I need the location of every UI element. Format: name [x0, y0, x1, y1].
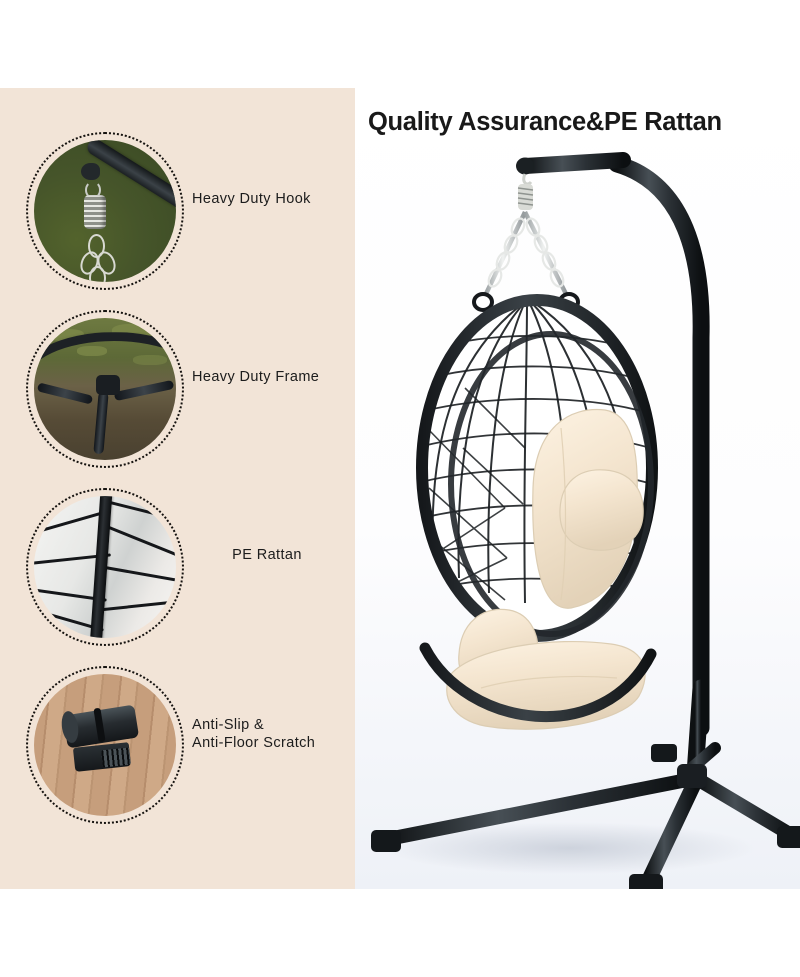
feature-label-anti-slip: Anti-Slip & Anti-Floor Scratch — [192, 716, 354, 752]
feature-label-heavy-duty-hook: Heavy Duty Hook — [192, 190, 354, 208]
feature-item-pe-rattan[interactable]: PE Rattan — [0, 484, 355, 662]
foot-cap-left — [371, 830, 401, 852]
stand-arm-end-cap — [516, 158, 534, 175]
chain-ring-left — [474, 294, 492, 310]
feature-item-heavy-duty-frame[interactable]: Heavy Duty Frame — [0, 306, 355, 484]
foot-cap-right — [777, 826, 800, 848]
feature-image-pe-rattan — [26, 488, 184, 646]
feature-item-anti-slip[interactable]: Anti-Slip & Anti-Floor Scratch — [0, 662, 355, 840]
foot-cap-rear — [651, 744, 677, 762]
page-title: Quality Assurance&PE Rattan — [368, 108, 800, 137]
stand-top-arm — [525, 160, 623, 166]
feature-image-hook — [26, 132, 184, 290]
feature-label-anti-slip-line2: Anti-Floor Scratch — [192, 734, 354, 752]
head-pillow — [560, 470, 643, 550]
ceiling-hook-icon — [524, 174, 531, 184]
infographic-page: Quality Assurance&PE Rattan Heavy Duty H… — [0, 0, 800, 977]
metal-chain — [485, 212, 567, 296]
product-photo-pane — [355, 88, 800, 889]
feature-item-heavy-duty-hook[interactable]: Heavy Duty Hook — [0, 128, 355, 306]
feature-label-anti-slip-line1: Anti-Slip & — [192, 716, 354, 734]
feature-label-heavy-duty-frame: Heavy Duty Frame — [192, 368, 354, 386]
feature-image-frame — [26, 310, 184, 468]
hanging-egg-chair-illustration — [355, 88, 800, 889]
feature-panel: Heavy Duty Hook Heavy Duty Frame — [0, 88, 355, 889]
feature-label-pe-rattan: PE Rattan — [186, 546, 348, 564]
feature-image-anti-slip-foot — [26, 666, 184, 824]
base-hub — [677, 764, 707, 788]
foot-cap-front — [629, 874, 663, 889]
